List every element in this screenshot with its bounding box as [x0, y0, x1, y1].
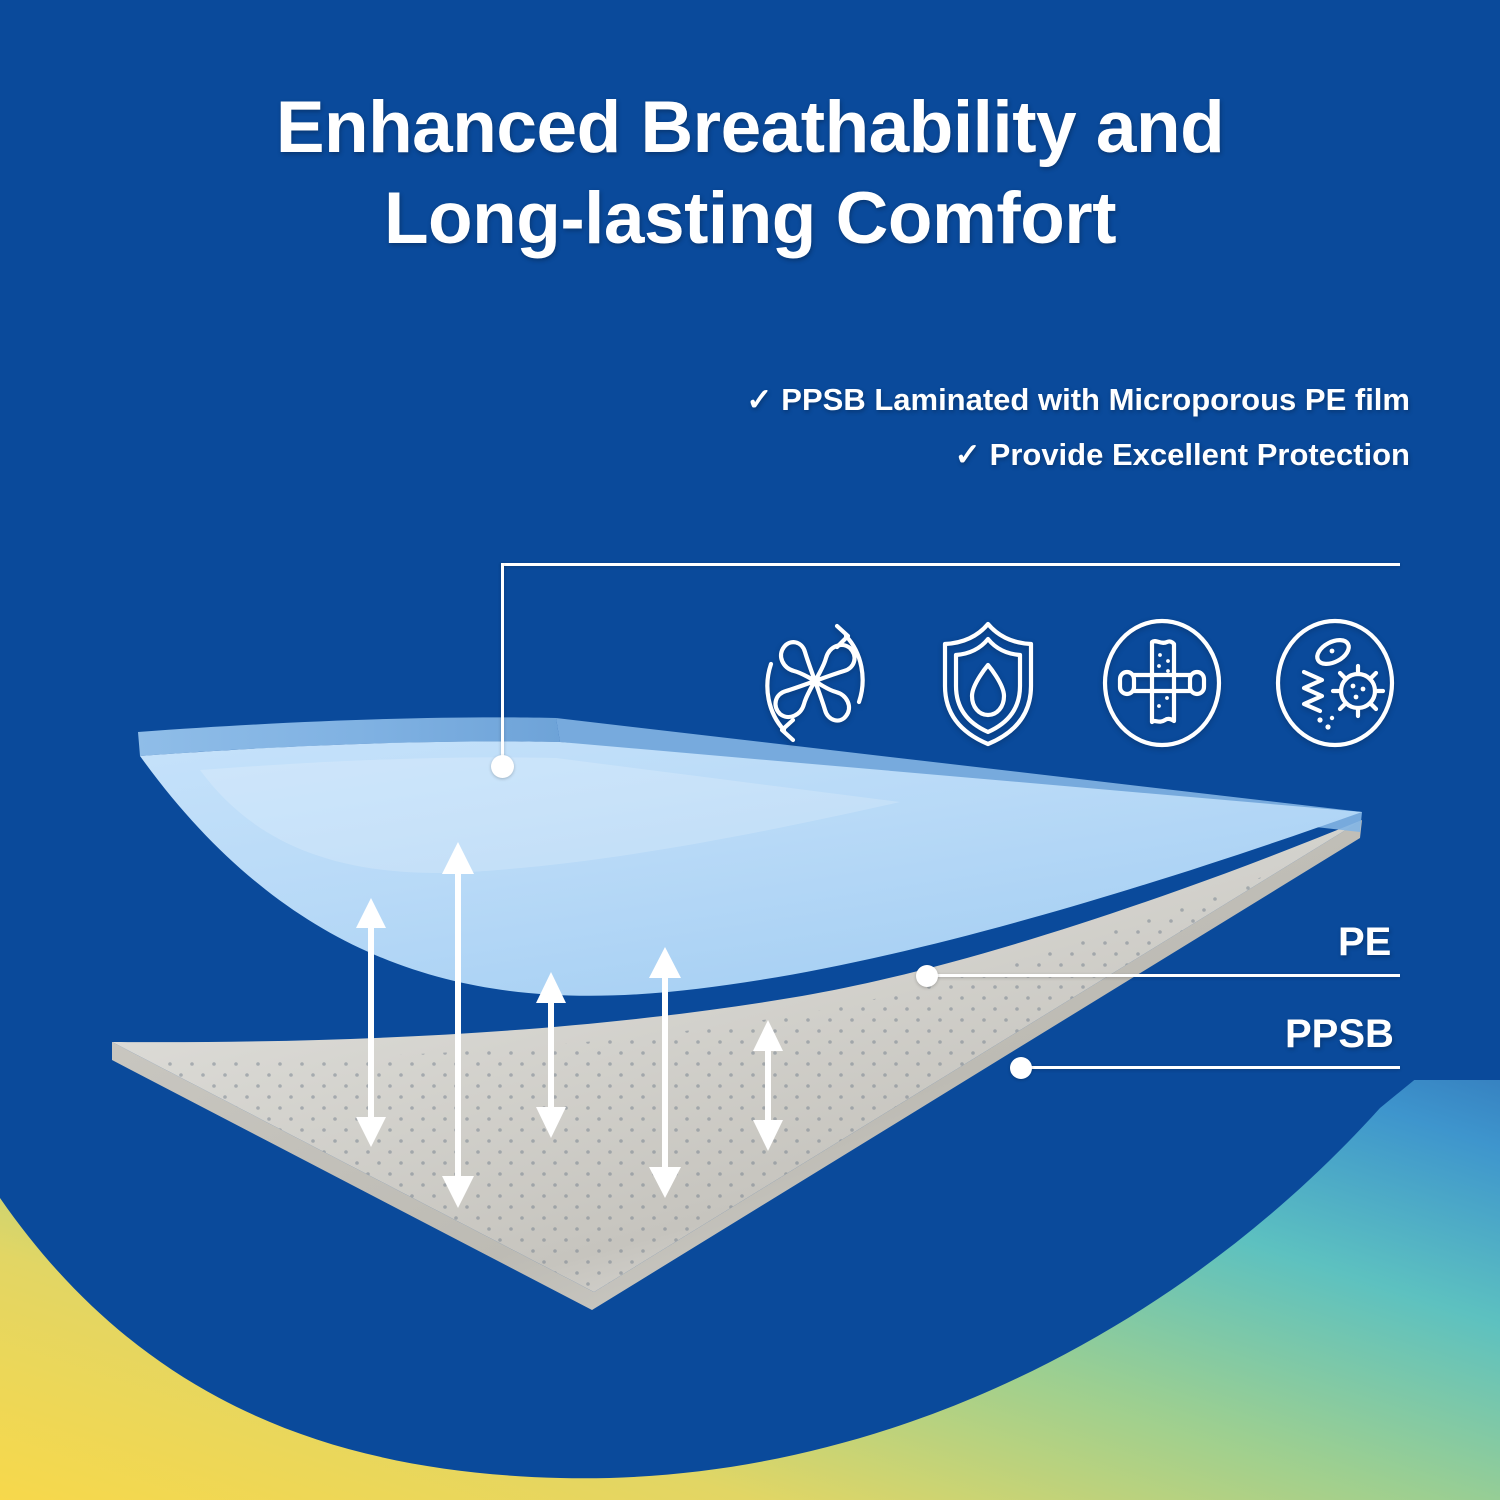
germ-barrier-icon [1265, 611, 1405, 756]
breathability-arrow [356, 898, 386, 1147]
breathability-arrow [442, 842, 474, 1208]
breathability-arrow [649, 947, 681, 1198]
check-icon: ✓ [746, 382, 772, 417]
ppsb-callout-dot [1010, 1057, 1032, 1079]
fabric-stretch-icon [1092, 611, 1232, 756]
page-title-line-1: Enhanced Breathability and [0, 82, 1500, 173]
breathability-arrow [536, 972, 566, 1138]
breathable-fan-icon [745, 611, 885, 756]
infographic-canvas: Enhanced Breathability and Long-lasting … [0, 0, 1500, 1500]
water-resistant-shield-icon [918, 611, 1058, 756]
top-callout-vertical-line [501, 563, 504, 763]
ppsb-layer-label: PPSB [1285, 1012, 1394, 1057]
page-title: Enhanced Breathability and Long-lasting … [0, 82, 1500, 265]
top-callout-dot [491, 755, 514, 778]
feature-bullet-2: ✓Provide Excellent Protection [0, 427, 1410, 482]
pe-layer-label: PE [1338, 920, 1391, 965]
ppsb-callout-line [1021, 1066, 1400, 1069]
breathability-arrow [753, 1020, 783, 1151]
check-icon: ✓ [955, 437, 981, 472]
pe-callout-line [927, 974, 1400, 977]
pe-callout-dot [916, 965, 938, 987]
top-callout-horizontal-line [501, 563, 1400, 566]
feature-bullet-1-label: PPSB Laminated with Microporous PE film [781, 382, 1410, 417]
page-title-line-2: Long-lasting Comfort [0, 173, 1500, 264]
feature-bullet-list: ✓PPSB Laminated with Microporous PE film… [0, 372, 1410, 482]
feature-bullet-2-label: Provide Excellent Protection [990, 437, 1410, 472]
feature-icon-row [745, 608, 1405, 758]
feature-bullet-1: ✓PPSB Laminated with Microporous PE film [0, 372, 1410, 427]
